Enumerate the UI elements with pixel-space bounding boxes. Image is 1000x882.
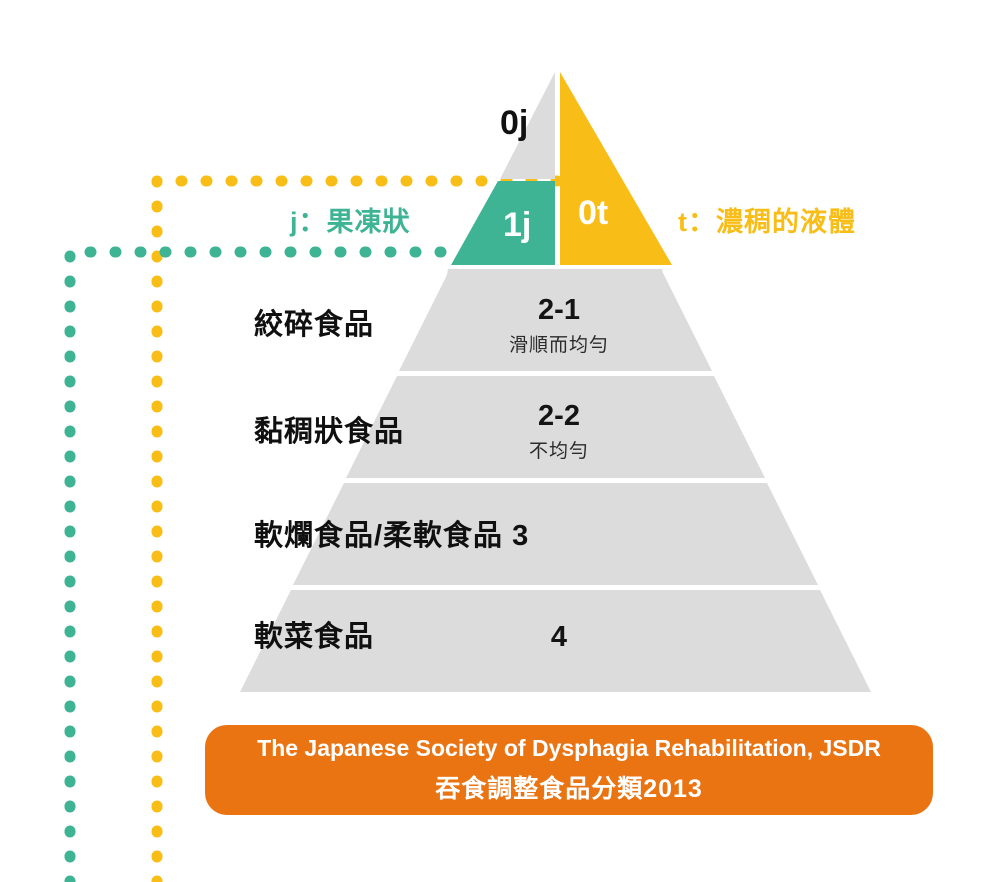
tier-code-2-2: 2-2 (519, 402, 599, 431)
tier-label-minced-food: 絞碎食品 (254, 311, 374, 340)
code-0t-label: 0t (578, 196, 608, 230)
banner-line-english: The Japanese Society of Dysphagia Rehabi… (257, 735, 881, 762)
tier-code-2-1: 2-1 (519, 296, 599, 325)
code-0j-label: 0j (500, 106, 528, 140)
tier-label-soft-food: 軟爛食品/柔軟食品 3 (254, 522, 529, 551)
tier-label-soft-vegetable-food: 軟菜食品 (254, 623, 374, 652)
source-banner: The Japanese Society of Dysphagia Rehabi… (205, 725, 933, 815)
dysphagia-food-pyramid-infographic: 0j 1j 0t j：果凍狀 t：濃稠的液體 絞碎食品 黏稠狀食品 軟爛食品/柔… (0, 0, 1000, 882)
tier-label-paste-food: 黏稠狀食品 (254, 418, 404, 447)
legend-jelly-label: j：果凍狀 (290, 209, 411, 236)
tier-sub-2-2: 不均勻 (509, 442, 609, 461)
tier-code-4: 4 (519, 623, 599, 652)
legend-thick-liquid-label: t：濃稠的液體 (678, 209, 856, 236)
tier-sub-2-1: 滑順而均勻 (489, 336, 629, 355)
banner-line-chinese: 吞食調整食品分類2013 (435, 769, 703, 805)
code-1j-label: 1j (503, 208, 531, 242)
